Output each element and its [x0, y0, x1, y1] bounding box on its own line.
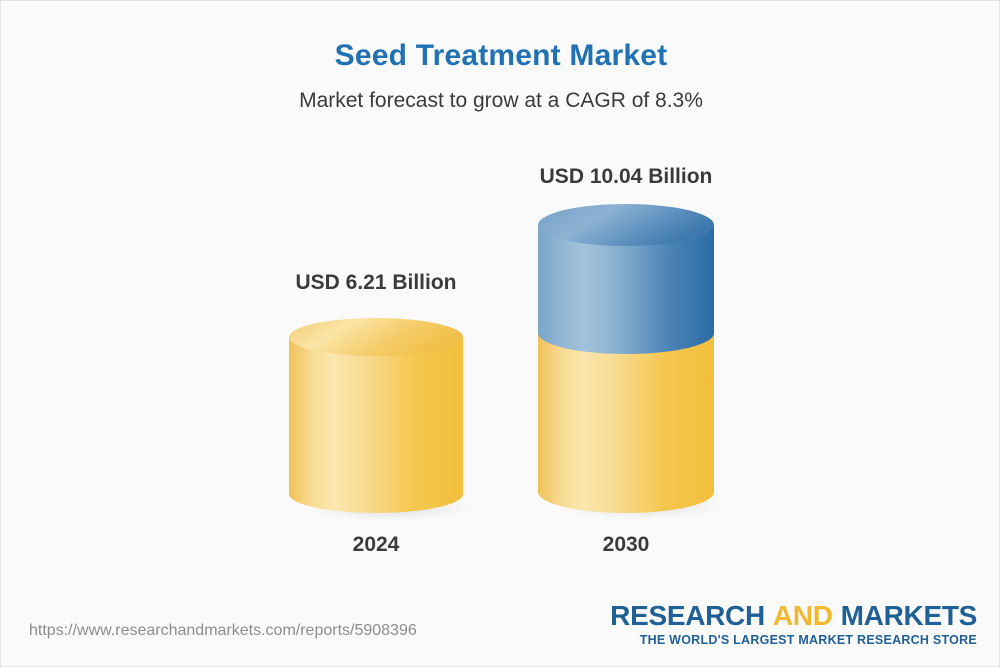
cylinder-2030-graphic: [538, 204, 714, 518]
bar-2030[interactable]: [538, 204, 714, 514]
bar-2024[interactable]: [289, 318, 463, 514]
brand-word-markets: MARKETS: [841, 600, 977, 631]
brand-word-and: AND: [773, 600, 833, 631]
data-label-2024: USD 6.21 Billion: [276, 271, 476, 295]
brand-wordmark: RESEARCHANDMARKETS: [610, 601, 977, 630]
chart-plot-area: USD 6.21 Billion: [1, 1, 1000, 601]
cylinder-2024-graphic: [289, 318, 463, 518]
brand-tagline: THE WORLD'S LARGEST MARKET RESEARCH STOR…: [610, 633, 977, 647]
brand-word-research: RESEARCH: [610, 600, 765, 631]
brand-logo[interactable]: RESEARCHANDMARKETS THE WORLD'S LARGEST M…: [610, 601, 977, 647]
source-url[interactable]: https://www.researchandmarkets.com/repor…: [29, 622, 417, 640]
category-label-2030: 2030: [536, 533, 716, 557]
category-label-2024: 2024: [286, 533, 466, 557]
data-label-2030: USD 10.04 Billion: [521, 165, 731, 189]
infographic-canvas: Seed Treatment Market Market forecast to…: [0, 0, 1000, 667]
